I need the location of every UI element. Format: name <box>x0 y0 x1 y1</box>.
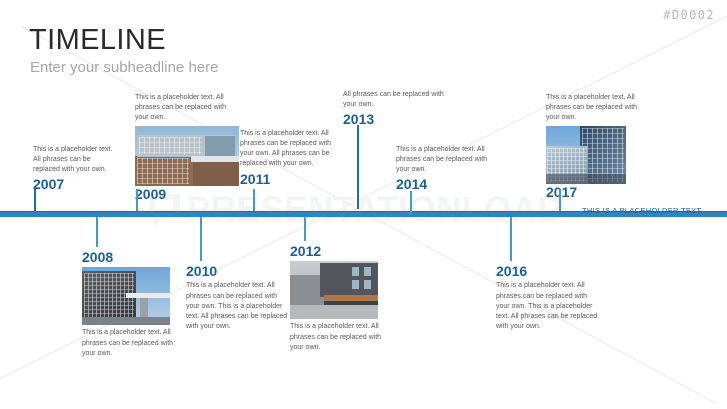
milestone-2012-photo[interactable] <box>290 261 378 319</box>
milestone-2009[interactable]: This is a placeholder text. All phrases … <box>135 93 239 203</box>
milestone-2012[interactable]: 2012 This is a placeholder text. All phr… <box>290 217 394 353</box>
milestone-2010-tick <box>200 217 202 261</box>
milestone-2010-year: 2010 <box>186 264 290 279</box>
milestone-2011-tick <box>253 189 255 211</box>
milestone-2009-tick <box>136 189 138 211</box>
milestone-2007-year: 2007 <box>33 177 115 192</box>
axis-end-caption: THIS IS A PLACEHOLDER TEXT. <box>582 206 703 215</box>
milestone-2008-tick <box>96 217 98 247</box>
milestone-2008-photo[interactable] <box>82 267 170 325</box>
milestone-2017-text: This is a placeholder text. All phrases … <box>546 93 650 123</box>
milestone-2017[interactable]: This is a placeholder text. All phrases … <box>546 93 650 201</box>
milestone-2014-tick <box>410 191 412 215</box>
milestone-2010-text: This is a placeholder text. All phrases … <box>186 281 290 332</box>
page-title: TIMELINE <box>29 26 166 55</box>
milestone-2013[interactable]: All phrases can be replaced with your ow… <box>343 90 447 128</box>
milestone-2016-text: This is a placeholder text. All phrases … <box>496 281 600 332</box>
milestone-2009-year: 2009 <box>135 187 239 202</box>
milestone-2017-tick <box>559 189 561 211</box>
timeline-slide: PRESENTATIONLOAD #D0002 TIMELINE Enter y… <box>0 0 727 409</box>
milestone-2017-photo[interactable] <box>546 126 626 184</box>
milestone-2016-year: 2016 <box>496 264 600 279</box>
milestone-2016-tick <box>510 217 512 261</box>
milestone-2012-tick <box>304 217 306 241</box>
milestone-2008[interactable]: 2008 This is a placeholder text. All phr… <box>82 217 186 359</box>
milestone-2014-text: This is a placeholder text. All phrases … <box>396 145 500 175</box>
milestone-2014[interactable]: This is a placeholder text. All phrases … <box>396 145 500 193</box>
page-subtitle: Enter your subheadline here <box>30 60 218 75</box>
milestone-2017-year: 2017 <box>546 185 650 200</box>
milestone-2011-year: 2011 <box>240 172 344 187</box>
document-code: #D0002 <box>663 8 715 22</box>
milestone-2010[interactable]: 2010 This is a placeholder text. All phr… <box>186 217 290 332</box>
milestone-2007-tick <box>34 189 36 211</box>
milestone-2012-text: This is a placeholder text. All phrases … <box>290 322 394 352</box>
milestone-2007[interactable]: This is a placeholder text. All phrases … <box>33 145 115 193</box>
milestone-2012-year: 2012 <box>290 244 394 259</box>
milestone-2013-tick <box>357 125 359 209</box>
milestone-2008-year: 2008 <box>82 250 186 265</box>
milestone-2007-text: This is a placeholder text. All phrases … <box>33 145 115 175</box>
milestone-2013-text: All phrases can be replaced with your ow… <box>343 90 447 110</box>
milestone-2008-text: This is a placeholder text. All phrases … <box>82 328 186 358</box>
milestone-2016[interactable]: 2016 This is a placeholder text. All phr… <box>496 217 600 332</box>
milestone-2011[interactable]: This is a placeholder text. All phrases … <box>240 129 344 187</box>
milestone-2011-text: This is a placeholder text. All phrases … <box>240 129 344 170</box>
milestone-2009-text: This is a placeholder text. All phrases … <box>135 93 239 123</box>
milestone-2009-photo[interactable] <box>135 126 239 186</box>
